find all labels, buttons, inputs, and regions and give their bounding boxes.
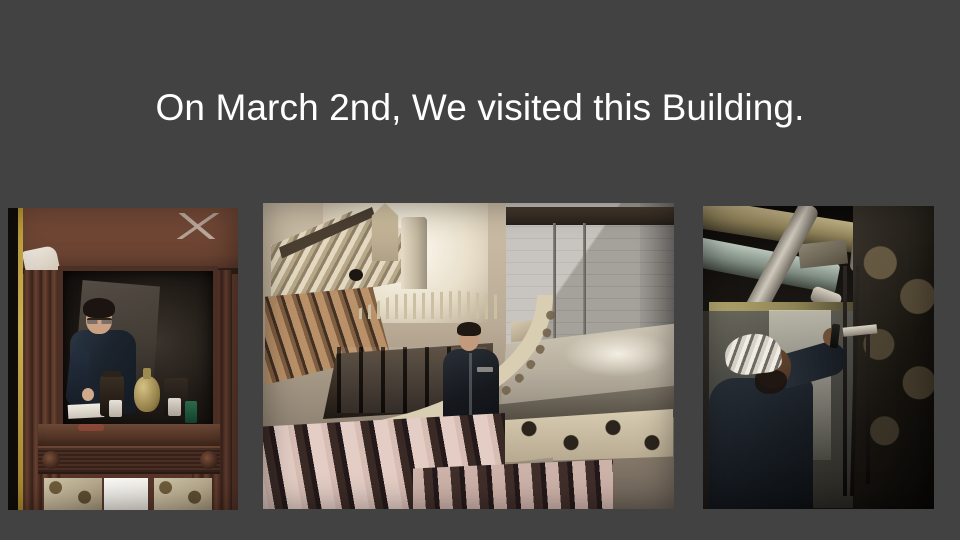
booth-counter-apron	[38, 446, 220, 474]
booth-rosette-right	[200, 451, 218, 469]
theater-pipe-left	[553, 223, 556, 343]
booth-rosette-left	[42, 451, 60, 469]
booth-window-frame	[58, 266, 218, 434]
ticket-booth-photo[interactable]: A person wearing glasses and a dark jack…	[8, 208, 238, 510]
theater-person-zipper	[469, 353, 472, 419]
basement-pipes-photo[interactable]: A man in a striped knit beanie and dark …	[703, 206, 934, 509]
basement-cable-c	[866, 284, 870, 484]
theater-scene	[263, 203, 674, 509]
theater-pipe-right	[583, 223, 586, 343]
booth-panel-right	[154, 478, 212, 510]
basement-person-torso	[709, 378, 813, 509]
presentation-slide: On March 2nd, We visited this Building.	[0, 0, 960, 540]
theater-wall-hole	[349, 269, 363, 281]
booth-panel-center	[104, 478, 148, 510]
booth-yellow-trim	[18, 208, 23, 510]
booth-left-shadow	[8, 208, 18, 510]
theater-ceiling-beam	[506, 207, 674, 225]
booth-graffiti	[176, 213, 220, 239]
booth-left-pilaster	[24, 270, 62, 510]
basement-scene	[703, 206, 934, 509]
theater-stage-sunlight	[563, 331, 673, 377]
page-title: On March 2nd, We visited this Building.	[0, 86, 960, 130]
booth-counter-debris	[78, 424, 104, 431]
ticket-booth-scene	[8, 208, 238, 510]
basement-mounting-plate-left	[798, 240, 848, 269]
theater-column	[401, 217, 427, 289]
theater-person-logo	[477, 367, 493, 372]
basement-cable-a	[843, 266, 847, 496]
theater-balcony-photo[interactable]: Interior of an abandoned theater seen fr…	[263, 203, 674, 509]
booth-panel-left	[44, 478, 102, 510]
theater-person-hair	[457, 322, 481, 336]
booth-counter-ledge	[38, 424, 220, 446]
basement-iron-grille	[863, 234, 934, 474]
